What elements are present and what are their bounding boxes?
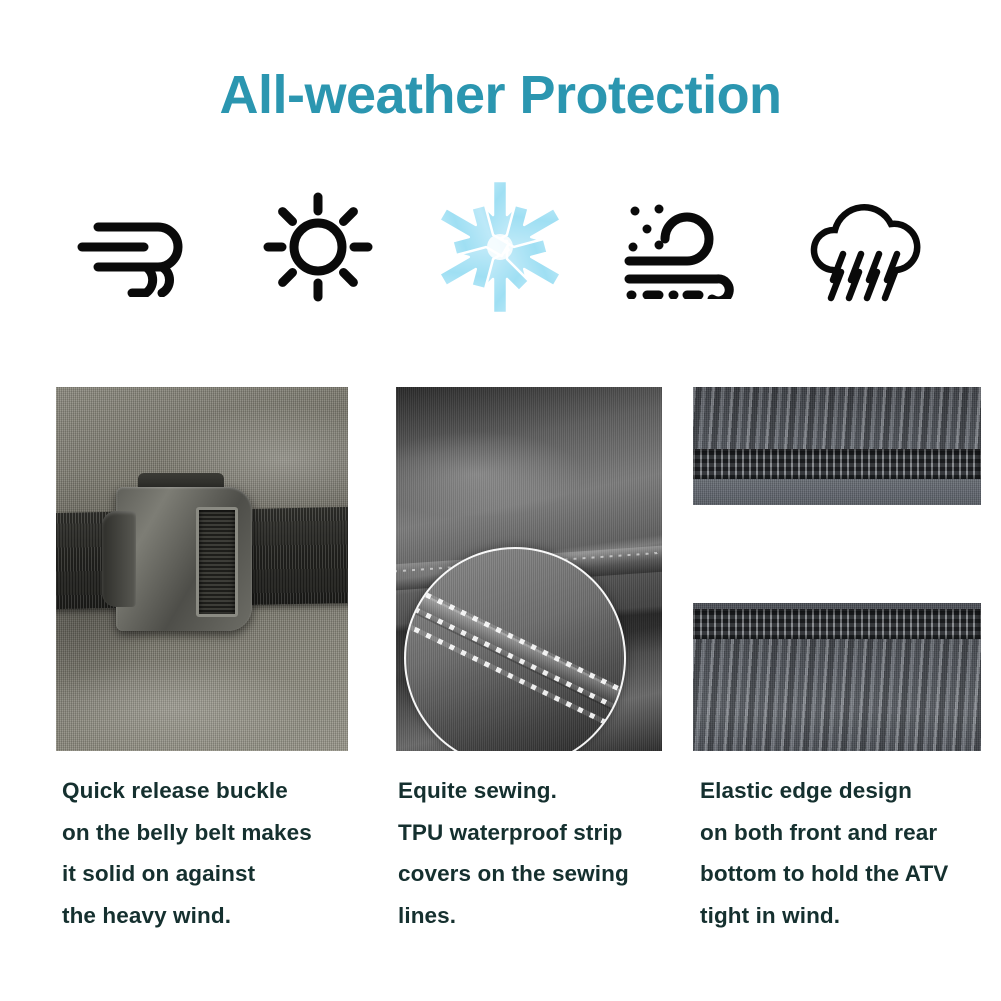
elastic-band — [693, 449, 981, 479]
rain-cloud-icon — [790, 172, 940, 322]
elastic-edge-photo-bottom — [693, 603, 981, 751]
caption-elastic-edge: Elastic edge design on both front and re… — [700, 770, 1000, 936]
snowflake-icon — [425, 172, 575, 322]
elastic-band — [693, 609, 981, 639]
blowing-snow-icon — [608, 172, 758, 322]
quick-release-buckle-photo — [56, 387, 348, 751]
weather-icon-row — [60, 172, 940, 322]
gathered-fabric — [693, 639, 981, 751]
gathered-fabric — [693, 387, 981, 449]
feature-photo-grid — [0, 387, 1001, 751]
sun-icon — [243, 172, 393, 322]
buckle-body — [116, 487, 252, 631]
wind-icon — [60, 172, 210, 322]
caption-quick-release-buckle: Quick release buckle on the belly belt m… — [62, 770, 382, 936]
page-title: All-weather Protection — [0, 66, 1001, 125]
elastic-edge-photo-top — [693, 387, 981, 505]
caption-tpu-sewing: Equite sewing. TPU waterproof strip cove… — [398, 770, 698, 936]
feature-captions: Quick release buckle on the belly belt m… — [0, 770, 1001, 950]
tpu-sewing-strip-photo — [396, 387, 662, 751]
